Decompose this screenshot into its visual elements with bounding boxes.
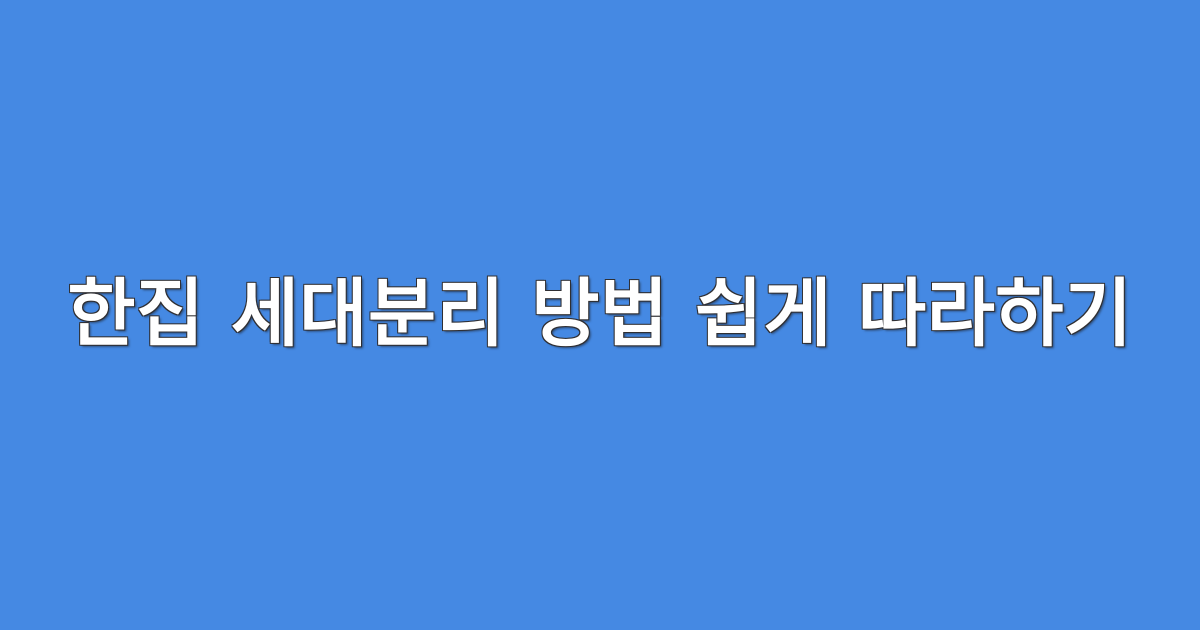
title-block: 한집 세대분리 방법 쉽게 따라하기 [0,271,1200,358]
page-title: 한집 세대분리 방법 쉽게 따라하기 [67,271,1132,358]
thumbnail-card: 한집 세대분리 방법 쉽게 따라하기 [0,0,1200,630]
